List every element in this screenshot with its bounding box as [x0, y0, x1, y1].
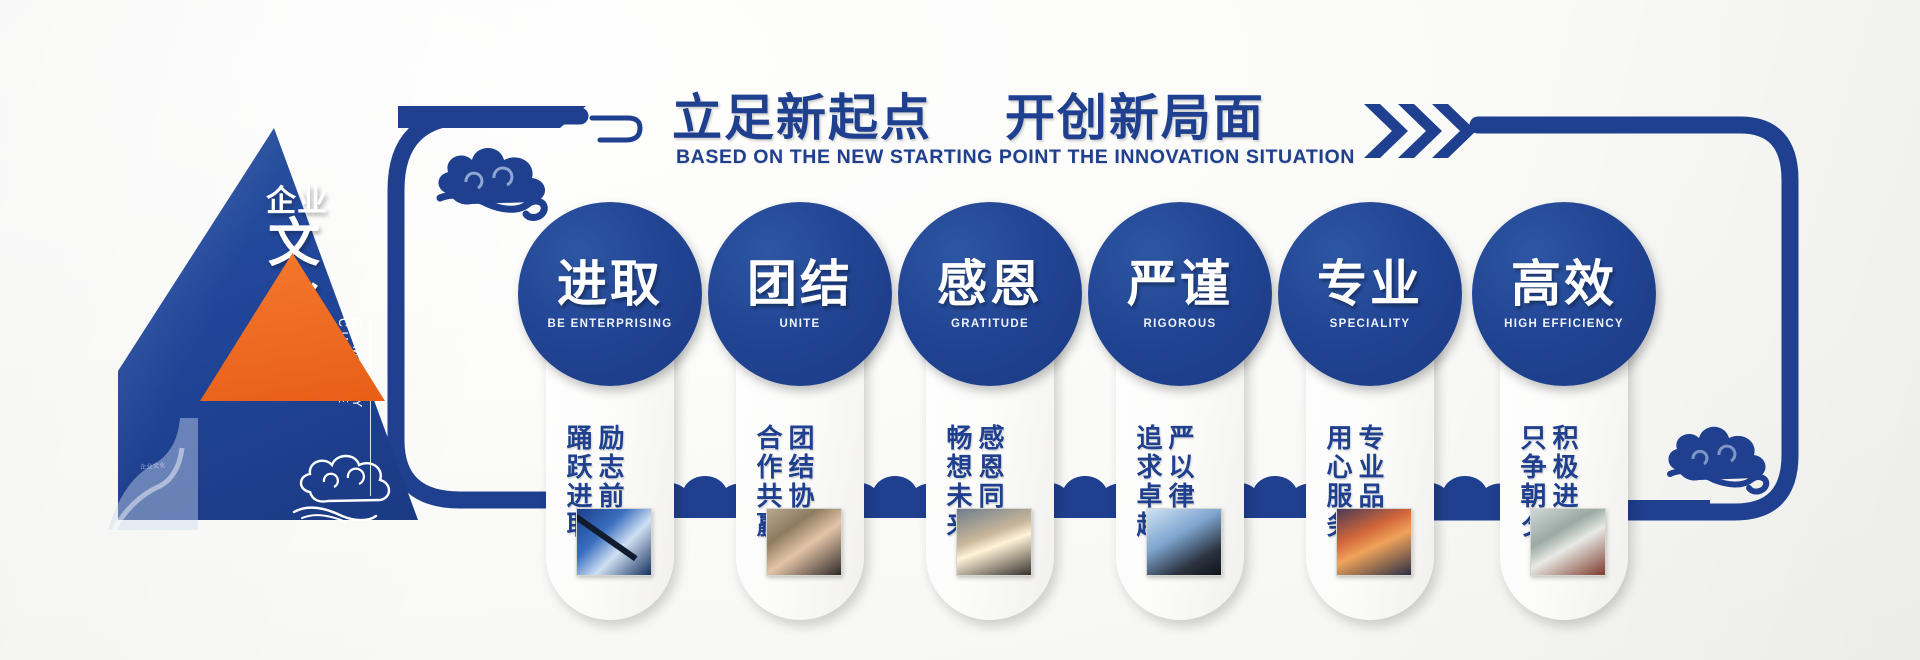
value-pill-circle-2[interactable]: 团结UNITE	[708, 202, 892, 386]
value-pill-english-label: UNITE	[780, 318, 821, 330]
page-subtitle: BASED ON THE NEW STARTING POINT THE INNO…	[676, 146, 1355, 169]
value-pill-6[interactable]: 高效HIGH EFFICIENCY积极进取只争朝夕	[1500, 232, 1628, 620]
title-part-2: 开创新局面	[1005, 89, 1265, 147]
value-pill-circle-5[interactable]: 专业SPECIALITY	[1278, 202, 1462, 386]
value-pill-chinese-label: 专业	[1317, 259, 1423, 309]
cloud-ornament-left-icon	[432, 132, 562, 224]
logo-wave-reflection-icon	[108, 412, 238, 532]
photo-ice-climber	[576, 508, 652, 576]
value-pill-circle-6[interactable]: 高效HIGH EFFICIENCY	[1472, 202, 1656, 386]
logo-cloud-motif-icon	[288, 446, 398, 526]
title-part-1: 立足新起点	[672, 89, 932, 147]
value-pill-english-label: BE ENTERPRISING	[548, 318, 673, 330]
value-pill-circle-3[interactable]: 感恩GRATITUDE	[898, 202, 1082, 386]
value-pill-2[interactable]: 团结UNITE团结协作合作共赢	[736, 232, 864, 620]
culture-wall-scene: 企业文化 企业 文 化 COMPANY CULTURE 立足新起点 开创新局面 …	[0, 0, 1920, 660]
value-pill-4[interactable]: 严谨RIGOROUS严以律己追求卓越	[1116, 232, 1244, 620]
value-pill-circle-1[interactable]: 进取BE ENTERPRISING	[518, 202, 702, 386]
value-pill-chinese-label: 感恩	[937, 259, 1043, 309]
photo-surfer-sunset	[1336, 508, 1412, 576]
value-pill-english-label: HIGH EFFICIENCY	[1504, 318, 1624, 330]
value-pill-english-label: GRATITUDE	[951, 318, 1029, 330]
value-pill-1[interactable]: 进取BE ENTERPRISING励志前行踊跃进取	[546, 232, 674, 620]
value-pill-english-label: RIGOROUS	[1143, 318, 1216, 330]
photo-eagle	[1146, 508, 1222, 576]
value-pill-3[interactable]: 感恩GRATITUDE感恩同行畅想未来	[926, 232, 1054, 620]
value-pill-circle-4[interactable]: 严谨RIGOROUS	[1088, 202, 1272, 386]
value-pill-5[interactable]: 专业SPECIALITY专业品质用心服务	[1306, 232, 1434, 620]
photo-joined-hands	[766, 508, 842, 576]
logo-watermark: 企业文化	[140, 460, 167, 471]
page-title: 立足新起点 开创新局面	[672, 78, 1265, 150]
value-pill-chinese-label: 高效	[1511, 259, 1617, 309]
photo-helping-hand	[956, 508, 1032, 576]
value-pill-english-label: SPECIALITY	[1330, 318, 1411, 330]
photo-stopwatch	[1530, 508, 1606, 576]
chevron-arrows-icon	[1362, 100, 1482, 162]
value-pill-chinese-label: 严谨	[1127, 259, 1233, 309]
value-pill-chinese-label: 团结	[747, 259, 853, 309]
value-pill-chinese-label: 进取	[557, 259, 663, 309]
